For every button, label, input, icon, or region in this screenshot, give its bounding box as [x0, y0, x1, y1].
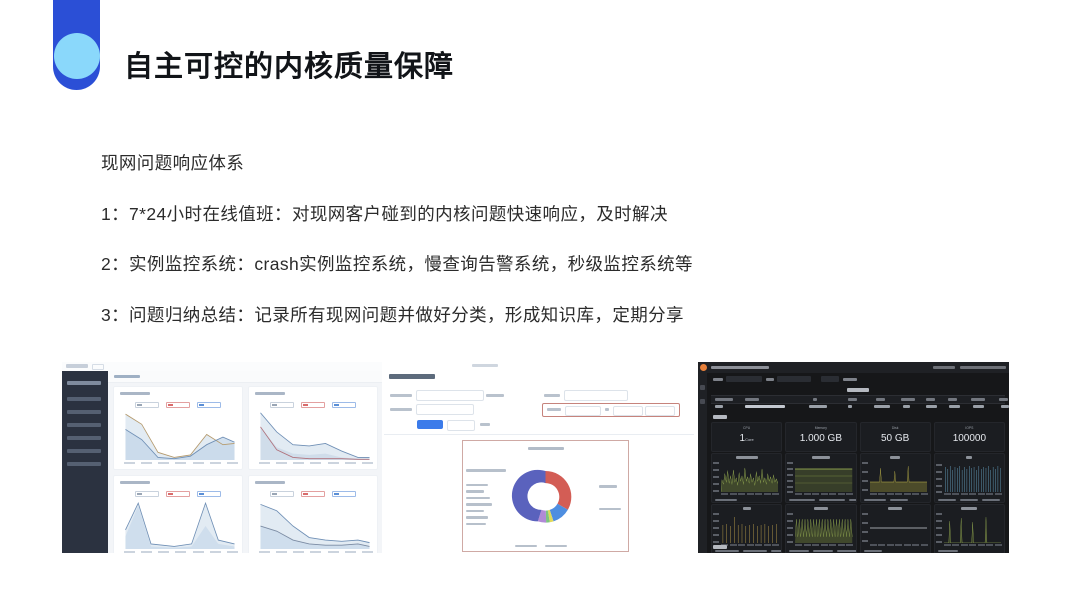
area-chart	[257, 498, 373, 549]
x-axis	[721, 493, 779, 495]
sidebar-item-4[interactable]	[67, 436, 101, 440]
timeseries-row-2	[711, 504, 1005, 553]
timeseries-panel-7	[860, 504, 931, 553]
screenshot-strip: CPU 1Core Memory 1.000 GB Disk 50 GB I	[62, 362, 1009, 553]
y-axis	[936, 462, 943, 492]
panel-title	[888, 507, 902, 510]
legend-series-avg[interactable]	[166, 491, 190, 497]
panel-title	[961, 507, 977, 510]
legend-series-max[interactable]	[332, 402, 356, 408]
panel-legend[interactable]	[789, 499, 856, 501]
stat-memory-value: 1.000 GB	[800, 434, 842, 444]
donut-chart-card	[462, 440, 629, 552]
instance-table-row[interactable]	[711, 403, 1005, 410]
stat-iops-label: IOPS	[965, 426, 973, 430]
panel-title	[890, 456, 900, 459]
stat-memory: Memory 1.000 GB	[785, 422, 856, 452]
donut-chart-title	[528, 447, 564, 450]
app-logo	[66, 364, 88, 368]
legend-series-max[interactable]	[197, 402, 221, 408]
template-variables	[711, 376, 1005, 384]
stat-cpu: CPU 1Core	[711, 422, 782, 452]
more-link[interactable]	[480, 423, 490, 426]
area-chart	[122, 498, 238, 549]
panel-title	[814, 507, 828, 510]
stat-disk: Disk 50 GB	[860, 422, 931, 452]
legend-series-avg[interactable]	[301, 491, 325, 497]
chart-legend	[135, 402, 221, 408]
body-item-1: 1：7*24小时在线值班：对现网客户碰到的内核问题快速响应，及时解决	[101, 206, 961, 224]
highlight-date-from[interactable]	[613, 406, 643, 416]
y-axis	[787, 462, 794, 492]
series-line	[795, 513, 852, 543]
screenshot-grafana-dashboard: CPU 1Core Memory 1.000 GB Disk 50 GB I	[698, 362, 1009, 553]
y-axis	[713, 462, 720, 492]
rail-icon-search[interactable]	[700, 385, 705, 390]
time-range-picker[interactable]	[960, 366, 1006, 369]
app-sidebar	[62, 371, 108, 553]
page-title: 自主可控的内核质量保障	[124, 43, 454, 85]
legend-series-count[interactable]	[270, 491, 294, 497]
y-axis	[787, 513, 794, 543]
sidebar-item-2[interactable]	[67, 410, 101, 414]
panel-legend[interactable]	[715, 499, 737, 501]
stat-cpu-value: 1Core	[740, 434, 754, 444]
legend-series-count[interactable]	[135, 402, 159, 408]
series-line	[795, 462, 852, 492]
highlight-label	[547, 408, 561, 411]
sidebar-item-0[interactable]	[67, 381, 101, 385]
dashboard-canvas	[108, 371, 382, 553]
section-title-overview	[847, 388, 869, 392]
y-axis	[936, 513, 943, 543]
navbar-actions[interactable]	[933, 366, 955, 369]
form-input-2[interactable]	[416, 404, 474, 415]
timeseries-panel-4	[934, 453, 1005, 503]
rail-icon-dashboards[interactable]	[700, 399, 705, 404]
legend-series-avg[interactable]	[166, 402, 190, 408]
sidebar-item-6[interactable]	[67, 462, 101, 466]
chart-legend	[270, 491, 356, 497]
form-label-3	[544, 394, 560, 397]
series-line	[870, 513, 927, 543]
x-axis	[795, 544, 853, 546]
grafana-logo-icon[interactable]	[700, 364, 707, 371]
stat-iops: IOPS 100000	[934, 422, 1005, 452]
page-header	[384, 369, 694, 385]
var-node[interactable]	[821, 376, 839, 382]
panel-title	[120, 481, 150, 484]
panel-legend[interactable]	[715, 550, 782, 552]
body-item-3: 3：问题归纳总结：记录所有现网问题并做好分类，形成知识库，定期分享	[101, 307, 961, 325]
screenshot-issue-stats	[384, 362, 694, 553]
timeseries-panel-8	[934, 504, 1005, 553]
legend-series-count[interactable]	[135, 491, 159, 497]
series-line	[870, 462, 927, 492]
stat-iops-value: 100000	[953, 434, 986, 444]
x-axis	[124, 462, 238, 467]
title-accent-mark	[53, 0, 100, 90]
panel-legend[interactable]	[864, 550, 882, 552]
page-header-title	[389, 374, 435, 379]
highlighted-filter-group	[542, 403, 680, 417]
y-axis	[862, 462, 869, 492]
chart-panel-1	[113, 386, 243, 470]
stat-disk-label: Disk	[892, 426, 899, 430]
y-axis	[862, 513, 869, 543]
filter-form	[384, 384, 694, 435]
highlight-select[interactable]	[565, 406, 601, 416]
panel-title	[255, 481, 285, 484]
x-axis	[721, 544, 779, 546]
breadcrumb	[108, 371, 382, 383]
form-label-1	[390, 394, 412, 397]
stat-row: CPU 1Core Memory 1.000 GB Disk 50 GB I	[711, 422, 1005, 452]
legend-series-max[interactable]	[332, 491, 356, 497]
var-instance[interactable]	[777, 376, 811, 382]
grafana-body: CPU 1Core Memory 1.000 GB Disk 50 GB I	[707, 373, 1009, 553]
x-axis	[795, 493, 853, 495]
form-label-2	[390, 408, 412, 411]
browser-tab-strip	[472, 364, 498, 367]
body-heading: 现网问题响应体系	[101, 155, 961, 173]
sidebar-item-3[interactable]	[67, 423, 101, 427]
section-title-resources[interactable]	[713, 415, 727, 419]
panel-title	[255, 392, 285, 395]
timeseries-panel-3	[860, 453, 931, 503]
legend-series-max[interactable]	[197, 491, 221, 497]
donut-bottom-labels	[515, 545, 595, 548]
search-button[interactable]	[417, 420, 443, 429]
env-select[interactable]	[92, 364, 104, 370]
series-line	[944, 513, 1001, 543]
timeseries-row-1	[711, 453, 1005, 503]
chart-panel-3	[113, 475, 243, 553]
chart-legend	[270, 402, 356, 408]
body-copy: 现网问题响应体系 1：7*24小时在线值班：对现网客户碰到的内核问题快速响应，及…	[101, 155, 961, 324]
panel-title	[743, 507, 751, 510]
chart-panel-4	[248, 475, 378, 553]
series-line	[721, 513, 778, 543]
y-axis	[713, 513, 720, 543]
x-axis	[124, 551, 238, 553]
highlight-sep	[605, 408, 609, 411]
chart-legend	[135, 491, 221, 497]
x-axis	[870, 544, 928, 546]
panel-title	[736, 456, 758, 459]
chart-grid	[113, 386, 378, 553]
var-datasource[interactable]	[726, 376, 762, 382]
chart-panel-2	[248, 386, 378, 470]
donut-left-labels	[466, 469, 514, 529]
x-axis	[944, 493, 1002, 495]
panel-title	[966, 456, 972, 459]
stat-cpu-label: CPU	[743, 426, 750, 430]
stat-disk-value: 50 GB	[881, 434, 909, 444]
form-hint-1	[486, 394, 504, 397]
panel-legend[interactable]	[938, 550, 958, 552]
form-input-3[interactable]	[564, 390, 628, 401]
timeseries-panel-6	[785, 504, 856, 553]
legend-series-avg[interactable]	[301, 402, 325, 408]
area-chart	[122, 409, 238, 460]
timeseries-panel-2	[785, 453, 856, 503]
series-line	[721, 462, 778, 492]
slide-root: 自主可控的内核质量保障 现网问题响应体系 1：7*24小时在线值班：对现网客户碰…	[0, 0, 1080, 608]
x-axis	[870, 493, 928, 495]
sidebar-item-5[interactable]	[67, 449, 101, 453]
title-accent-dot	[54, 33, 100, 79]
reset-button[interactable]	[447, 420, 475, 431]
area-chart	[257, 409, 373, 460]
panel-title	[812, 456, 830, 459]
form-input-1[interactable]	[416, 390, 484, 401]
stat-memory-label: Memory	[815, 426, 827, 430]
x-axis	[259, 551, 373, 553]
timeseries-panel-1	[711, 453, 782, 503]
panel-legend[interactable]	[938, 499, 1000, 501]
x-axis	[259, 462, 373, 467]
section-title-bottom[interactable]	[713, 545, 727, 549]
x-axis	[944, 544, 1002, 546]
screenshot-monitor-dashboard	[62, 362, 382, 553]
donut-right-labels	[599, 485, 625, 530]
highlight-date-to[interactable]	[645, 406, 675, 416]
legend-series-count[interactable]	[270, 402, 294, 408]
breadcrumb[interactable]	[711, 366, 769, 369]
series-line	[944, 462, 1001, 492]
panel-title	[120, 392, 150, 395]
body-item-2: 2：实例监控系统：crash实例监控系统，慢查询告警系统，秒级监控系统等	[101, 256, 961, 274]
panel-legend[interactable]	[789, 550, 856, 552]
sidebar-item-1[interactable]	[67, 397, 101, 401]
panel-legend[interactable]	[864, 499, 908, 501]
